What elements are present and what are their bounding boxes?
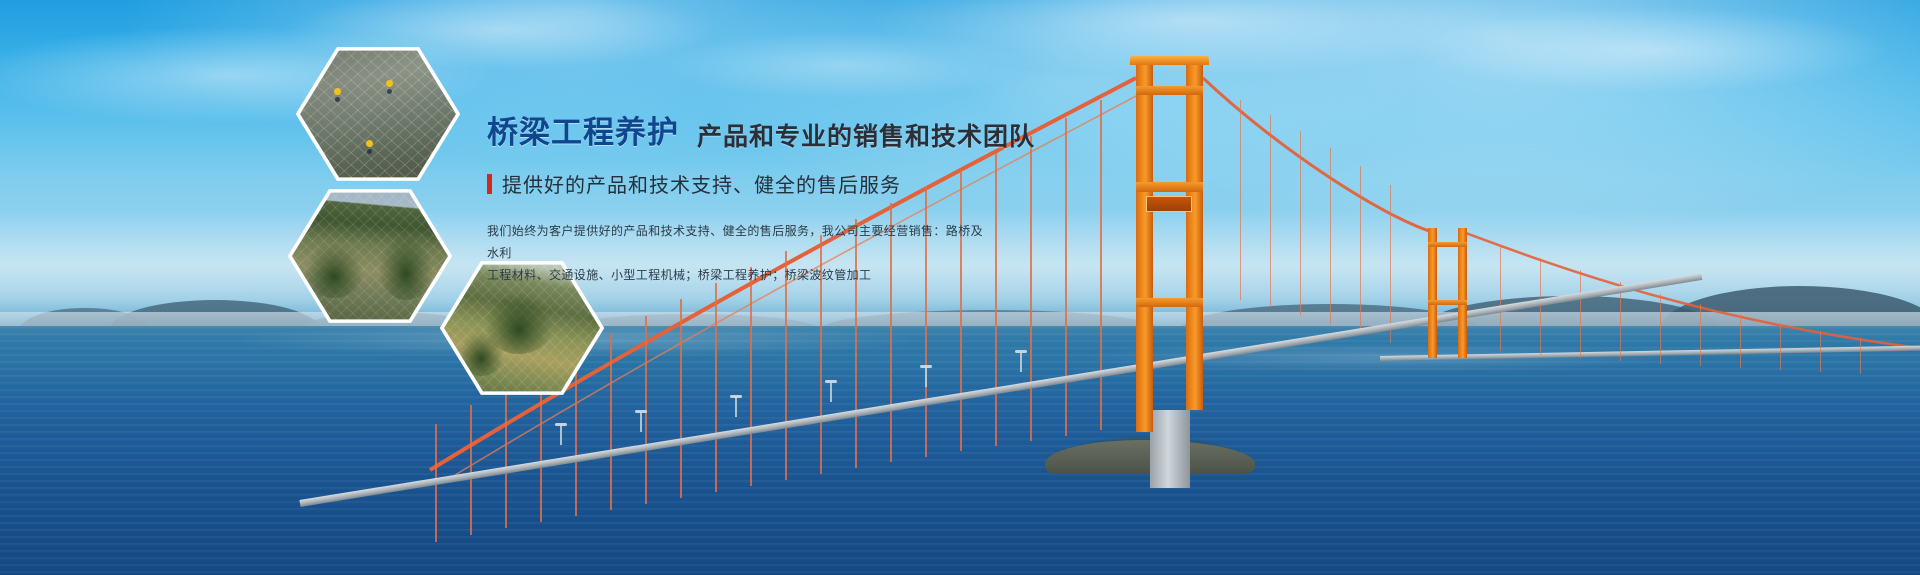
bridge-far-tower-crossbeam — [1428, 300, 1467, 305]
bridge-far-tower-crossbeam — [1428, 242, 1467, 247]
bridge-tower-cap — [1130, 56, 1209, 65]
hanger-far — [1740, 314, 1741, 368]
hanger — [610, 333, 612, 510]
deck-lamp — [830, 382, 832, 402]
hanger-far — [1660, 294, 1661, 364]
hanger-far — [1780, 323, 1781, 370]
hanger — [750, 267, 752, 486]
hex-photo-2[interactable] — [292, 190, 448, 322]
foliage-shape — [378, 234, 434, 300]
hanger-far — [1360, 166, 1361, 333]
hanger-far — [1860, 338, 1861, 374]
headline-row: 桥梁工程养护 产品和专业的销售和技术团队 — [487, 118, 1047, 149]
bridge-tower-crossbeam — [1136, 182, 1203, 192]
hanger-far — [1620, 282, 1621, 361]
banner-text-block: 桥梁工程养护 产品和专业的销售和技术团队 提供好的产品和技术支持、健全的售后服务… — [487, 118, 1047, 286]
hanger-far — [1500, 245, 1501, 351]
hex-photo-1[interactable] — [300, 48, 456, 180]
body-paragraph: 我们始终为客户提供好的产品和技术支持、健全的售后服务，我公司主要经营销售：路桥及… — [487, 220, 987, 286]
foliage-shape — [304, 244, 364, 298]
deck-lamp — [640, 412, 642, 432]
hanger — [1065, 118, 1067, 436]
hanger-far — [1540, 258, 1541, 355]
suspension-bridge — [0, 0, 1920, 575]
headline-secondary: 产品和专业的销售和技术团队 — [697, 124, 1035, 149]
foliage-shape — [458, 332, 504, 376]
headline-primary: 桥梁工程养护 — [487, 118, 679, 149]
bridge-far-tower-left-leg — [1428, 228, 1437, 358]
hanger-far — [1390, 185, 1391, 343]
hanger-far — [1580, 270, 1581, 358]
hanger — [715, 283, 717, 492]
hero-banner: 桥梁工程养护 产品和专业的销售和技术团队 提供好的产品和技术支持、健全的售后服务… — [0, 0, 1920, 575]
hanger — [470, 405, 472, 535]
worker-figure-icon — [386, 80, 393, 87]
subheadline-text: 提供好的产品和技术支持、健全的售后服务 — [502, 169, 901, 198]
bridge-tower-left-leg — [1136, 62, 1153, 432]
hanger-far — [1270, 115, 1271, 307]
accent-bar — [487, 174, 492, 194]
deck-lamp — [735, 397, 737, 417]
hanger — [680, 299, 682, 498]
hanger-far — [1330, 148, 1331, 324]
hanger — [1100, 100, 1102, 430]
body-line-2: 工程材料、交通设施、小型工程机械；桥梁工程养护；桥梁波纹管加工 — [487, 264, 987, 286]
bridge-tower-crossbeam — [1136, 298, 1203, 307]
hanger-far — [1700, 304, 1701, 366]
bridge-pier — [1150, 410, 1190, 488]
deck-lamp — [925, 367, 927, 387]
body-line-1: 我们始终为客户提供好的产品和技术支持、健全的售后服务，我公司主要经营销售：路桥及… — [487, 220, 987, 264]
bridge-tower-sign — [1146, 196, 1192, 212]
bridge-tower-right-leg — [1186, 62, 1203, 410]
hanger-far — [1240, 100, 1241, 300]
bridge-far-tower-right-leg — [1458, 228, 1467, 358]
worker-figure-icon — [334, 88, 341, 95]
hanger-far — [1300, 131, 1301, 315]
worker-figure-icon — [366, 140, 373, 147]
subheadline-row: 提供好的产品和技术支持、健全的售后服务 — [487, 169, 1047, 198]
bridge-tower-crossbeam — [1136, 86, 1203, 95]
hanger-far — [1820, 331, 1821, 372]
deck-lamp — [560, 425, 562, 445]
deck-lamp — [1020, 352, 1022, 372]
